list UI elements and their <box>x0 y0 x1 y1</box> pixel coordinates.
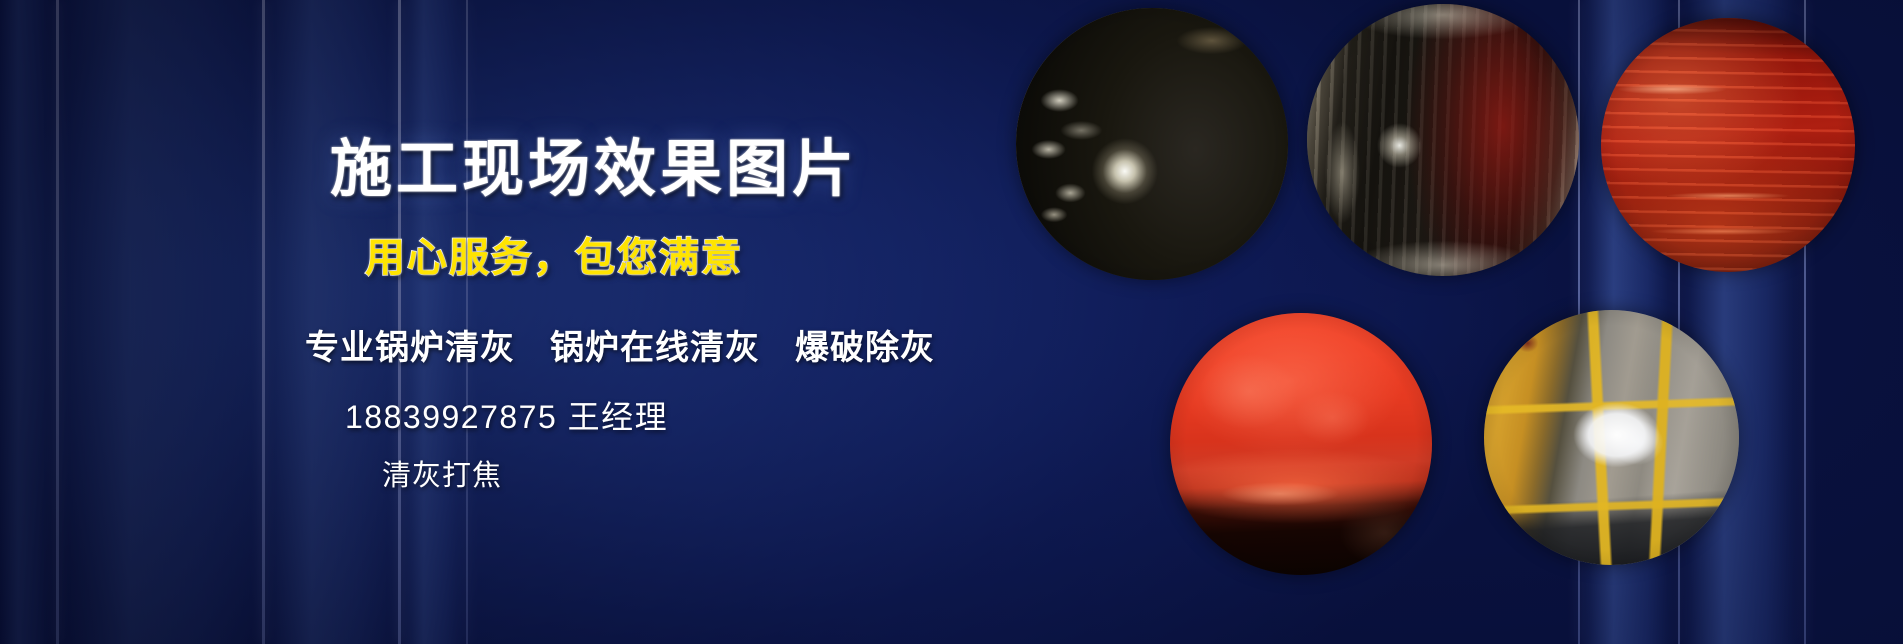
banner-text-column: 施工现场效果图片 用心服务，包您满意 专业锅炉清灰 锅炉在线清灰 爆破除灰 18… <box>0 0 900 644</box>
photo-edge-shading <box>1016 8 1288 280</box>
photo-boiler-interior-ash-deposits <box>1016 8 1288 280</box>
photo-edge-shading <box>1601 18 1855 272</box>
banner-tagline: 清灰打焦 <box>382 452 502 494</box>
photo-edge-shading <box>1484 310 1739 565</box>
photo-combustion-chamber-red-glow <box>1170 313 1432 575</box>
banner-services-list: 专业锅炉清灰 锅炉在线清灰 爆破除灰 <box>305 320 935 369</box>
photo-boiler-tubes-cleaned <box>1307 4 1579 276</box>
banner-headline: 施工现场效果图片 <box>330 118 858 208</box>
promo-banner: 施工现场效果图片 用心服务，包您满意 专业锅炉清灰 锅炉在线清灰 爆破除灰 18… <box>0 0 1903 644</box>
photo-edge-shading <box>1170 313 1432 575</box>
banner-subline: 用心服务，包您满意 <box>365 225 743 283</box>
photo-worker-yellow-suit-cleaning <box>1484 310 1739 565</box>
photo-edge-shading <box>1307 4 1579 276</box>
banner-contact-phone: 18839927875 王经理 <box>345 392 668 438</box>
photo-furnace-glowing-red-tubes <box>1601 18 1855 272</box>
